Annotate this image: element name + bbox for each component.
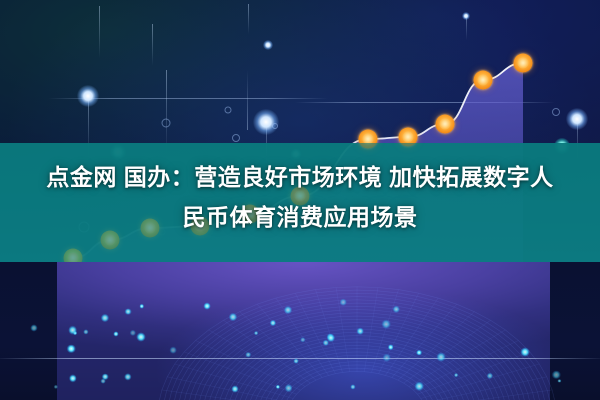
headline-line-1: 点金网 国办：营造良好市场环境 加快拓展数字人 — [46, 164, 553, 190]
glow-particle — [294, 358, 299, 363]
headline-line-2: 民币体育消费应用场景 — [0, 197, 600, 237]
glow-particle — [393, 306, 400, 313]
glow-particle — [340, 299, 347, 306]
glow-particle — [357, 328, 364, 335]
glow-particle — [232, 385, 239, 392]
glow-particle — [68, 326, 77, 335]
glow-particle — [383, 353, 392, 362]
headline-text: 点金网 国办：营造良好市场环境 加快拓展数字人 民币体育消费应用场景 — [0, 157, 600, 237]
glow-particle — [454, 373, 458, 377]
glow-particle — [67, 344, 76, 353]
glow-particle — [416, 350, 422, 356]
glow-particle — [203, 302, 210, 309]
glow-particle — [285, 384, 293, 392]
glow-particle — [254, 332, 258, 336]
glow-particle — [101, 379, 106, 384]
glow-particle — [284, 306, 292, 314]
glow-particle — [415, 382, 424, 391]
glow-particle — [170, 347, 177, 354]
chart-point-10 — [474, 71, 493, 90]
chart-point-11 — [514, 54, 533, 73]
glow-particle — [388, 345, 394, 351]
glow-particle — [382, 320, 391, 329]
glow-particle — [229, 313, 237, 321]
chart-point-9 — [436, 115, 455, 134]
glow-particle — [246, 352, 252, 358]
glow-particle — [521, 348, 530, 357]
bottom-horizontal-rule — [0, 358, 600, 359]
glow-particle — [136, 333, 145, 342]
glow-particle — [140, 304, 145, 309]
banner-image: 点金网 国办：营造良好市场环境 加快拓展数字人 民币体育消费应用场景 — [0, 0, 600, 400]
glow-particle — [125, 308, 132, 315]
glow-particle — [437, 352, 446, 361]
